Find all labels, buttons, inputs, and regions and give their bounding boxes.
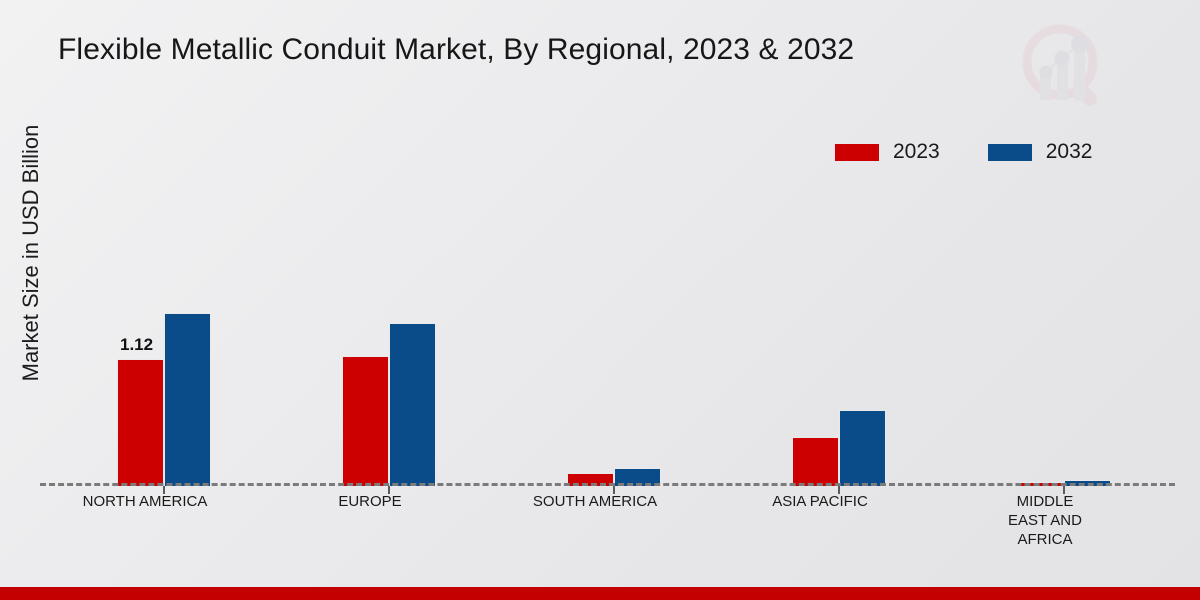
bar-group-asia-pacific <box>783 120 895 486</box>
bar-value-label-north-america-2023: 1.12 <box>120 335 153 355</box>
bar-2023-europe[interactable] <box>342 356 389 486</box>
x-axis-baseline <box>40 483 1175 486</box>
bar-2032-asia-pacific[interactable] <box>839 410 886 486</box>
x-axis-label-europe: EUROPE <box>295 492 445 511</box>
x-axis-label-asia-pacific: ASIA PACIFIC <box>745 492 895 511</box>
bar-2032-europe[interactable] <box>389 323 436 486</box>
bar-group-middle-east-and-africa <box>1008 120 1120 486</box>
footer-accent-bar <box>0 587 1200 600</box>
x-axis-label-north-america: NORTH AMERICA <box>70 492 220 511</box>
x-axis-label-middle-east-and-africa: MIDDLE EAST AND AFRICA <box>1003 492 1087 549</box>
x-axis-label-south-america: SOUTH AMERICA <box>520 492 670 511</box>
market-research-magnifier-logo-icon <box>1016 18 1112 110</box>
bar-group-north-america: 1.12 <box>108 120 220 486</box>
bar-2032-north-america[interactable] <box>164 313 211 486</box>
page-title: Flexible Metallic Conduit Market, By Reg… <box>58 33 854 67</box>
bar-2023-asia-pacific[interactable] <box>792 437 839 486</box>
bar-group-south-america <box>558 120 670 486</box>
plot-area: 1.12 <box>40 120 1175 486</box>
chart-canvas: Flexible Metallic Conduit Market, By Reg… <box>0 0 1200 600</box>
bar-2023-north-america[interactable] <box>117 359 164 486</box>
bar-group-europe <box>333 120 445 486</box>
x-axis-labels: NORTH AMERICA EUROPE SOUTH AMERICA ASIA … <box>40 492 1175 582</box>
